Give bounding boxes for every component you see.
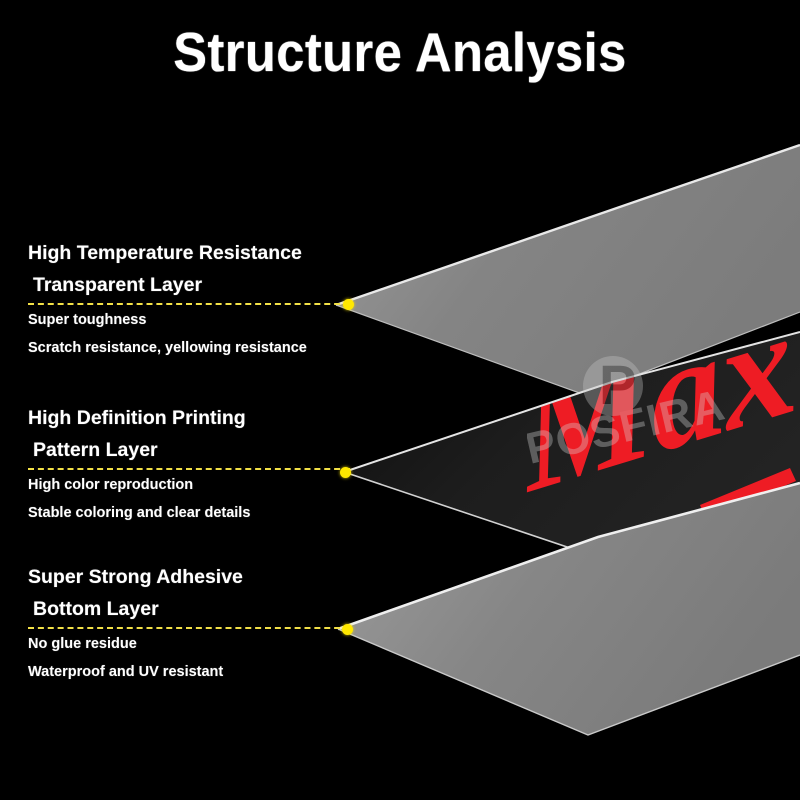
callout-heading-line2: Transparent Layer	[28, 270, 358, 302]
callout-heading-line1: Super Strong Adhesive	[28, 566, 243, 588]
callout-heading-line1: High Definition Printing	[28, 407, 246, 429]
callout-heading: High Definition Printing Pattern Layer	[28, 403, 358, 466]
callout-bottom-layer: Super Strong Adhesive Bottom Layer No gl…	[28, 562, 358, 684]
callout-feature-2: Scratch resistance, yellowing resistance	[28, 333, 358, 360]
callout-heading-line2: Bottom Layer	[28, 594, 358, 626]
callout-feature-2: Stable coloring and clear details	[28, 498, 358, 525]
callout-feature-1: Super toughness	[28, 305, 358, 332]
callout-marker-dot-pattern	[340, 467, 351, 478]
callout-pattern-layer: High Definition Printing Pattern Layer H…	[28, 403, 358, 525]
callout-feature-1: High color reproduction	[28, 470, 358, 497]
infographic-canvas: Structure Analysis	[0, 0, 800, 800]
callout-heading-line2: Pattern Layer	[28, 435, 358, 467]
callout-heading: High Temperature Resistance Transparent …	[28, 238, 358, 301]
callout-heading: Super Strong Adhesive Bottom Layer	[28, 562, 358, 625]
callout-feature-1: No glue residue	[28, 629, 358, 656]
callout-heading-line1: High Temperature Resistance	[28, 242, 302, 264]
callout-marker-dot-bottom	[342, 624, 353, 635]
callout-transparent-layer: High Temperature Resistance Transparent …	[28, 238, 358, 360]
callout-marker-dot-transparent	[343, 299, 354, 310]
callout-feature-2: Waterproof and UV resistant	[28, 657, 358, 684]
